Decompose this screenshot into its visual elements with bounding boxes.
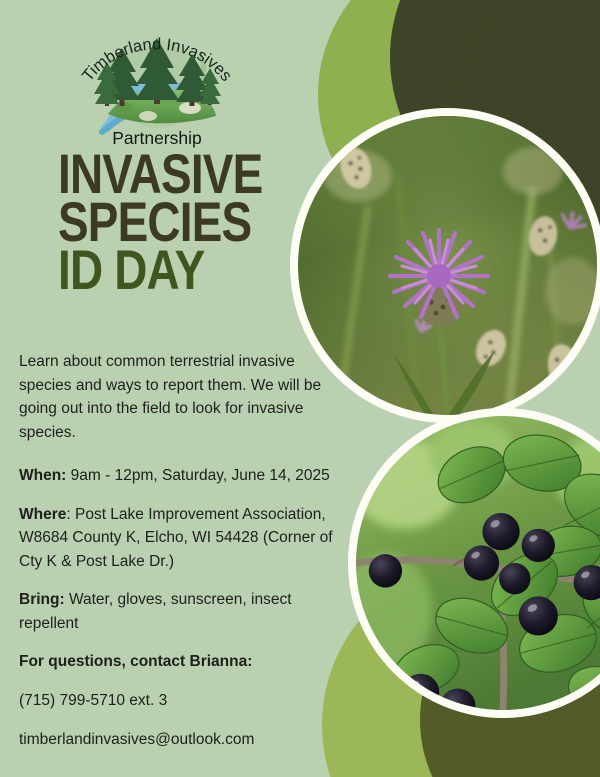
headline-line-3: ID DAY (58, 246, 304, 294)
contact-heading: For questions, contact Brianna: (19, 650, 349, 674)
contact-block: For questions, contact Brianna: (715) 79… (19, 650, 349, 751)
bring-line: Bring: Water, gloves, sunscreen, insect … (19, 588, 349, 635)
buckthorn-illustration (356, 416, 600, 710)
logo-graphic: Timberland Invasives Partnership (62, 28, 252, 150)
where-line: Where: Post Lake Improvement Association… (19, 503, 349, 574)
where-label: Where (19, 506, 66, 523)
where-value: : Post Lake Improvement Association, W86… (19, 506, 333, 570)
flyer-body-copy: Learn about common terrestrial invasive … (19, 350, 349, 766)
contact-phone[interactable]: (715) 799-5710 ext. 3 (19, 689, 349, 713)
organization-logo: Timberland Invasives Partnership (62, 28, 252, 150)
page-title: INVASIVE SPECIES ID DAY (58, 150, 358, 294)
buckthorn-photo-inner (356, 416, 600, 710)
bring-label: Bring: (19, 591, 65, 608)
intro-paragraph: Learn about common terrestrial invasive … (19, 350, 349, 444)
when-line: When: 9am - 12pm, Saturday, June 14, 202… (19, 464, 349, 488)
flyer-canvas: Timberland Invasives Partnership INVASIV… (0, 0, 600, 777)
when-label: When: (19, 467, 66, 484)
contact-email[interactable]: timberlandinvasives@outlook.com (19, 728, 349, 752)
when-value: 9am - 12pm, Saturday, June 14, 2025 (66, 467, 329, 484)
